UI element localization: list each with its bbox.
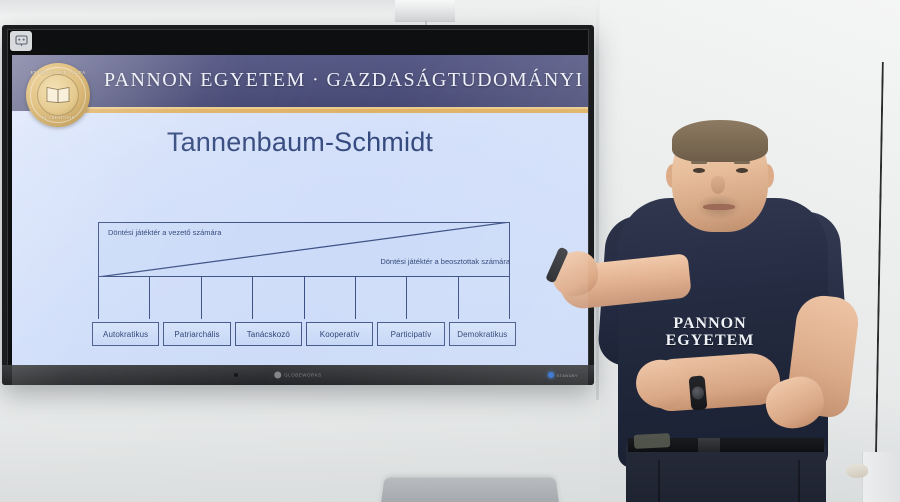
wrist-watch [689, 375, 708, 410]
shirt-logo-text: PANNON EGYETEM [666, 316, 755, 349]
ir-sensor [234, 373, 238, 377]
eye-left [693, 168, 705, 173]
subordinate-latitude-label: Döntési játéktér a beosztottak számára [380, 257, 510, 266]
eyebrow-right [734, 161, 750, 164]
continuum-column [150, 277, 201, 319]
presenter: PANNON EGYETEM [530, 120, 890, 502]
flat-panel-display[interactable]: PANNON EGYETEM · GAZDASÁGTUDOMÁNYI KAR E… [2, 25, 594, 385]
shirt-line-1: PANNON [666, 316, 755, 333]
nose [711, 176, 725, 194]
university-seal-icon: EX FIDE ET MERCATURA ET CREATIONE [26, 63, 90, 127]
style-box-participativ: Participatív [377, 322, 444, 346]
leadership-style-boxes: Autokratikus Patriarchális Tanácskozó Ko… [92, 322, 516, 346]
seal-latin-top-text: EX FIDE ET MERCATURA [26, 70, 90, 75]
small-object-on-radiator [846, 464, 868, 478]
style-box-tanacskozo: Tanácskozó [235, 322, 302, 346]
display-chin-bezel: GLOBEWORKS STANDBY [2, 365, 594, 385]
continuum-column [253, 277, 304, 319]
leader-latitude-label: Döntési játéktér a vezető számára [108, 228, 221, 237]
tannenbaum-schmidt-diagram: Döntési játéktér a vezető számára Döntés… [88, 200, 518, 355]
open-book-icon [45, 87, 71, 104]
gold-accent-swoosh [12, 103, 588, 125]
shirt-line-2: EGYETEM [666, 333, 755, 350]
display-brand-logo: GLOBEWORKS [274, 372, 322, 379]
hair [672, 120, 768, 162]
belt-buckle [698, 438, 720, 452]
presentation-slide: PANNON EGYETEM · GAZDASÁGTUDOMÁNYI KAR E… [12, 55, 588, 385]
continuum-column [356, 277, 407, 319]
continuum-column [407, 277, 458, 319]
pocket-seam-right [798, 460, 800, 502]
style-box-patriarchalis: Patriarchális [163, 322, 230, 346]
style-box-kooperativ: Kooperatív [306, 322, 373, 346]
laptop-lid[interactable] [379, 477, 560, 502]
presentation-screen-icon[interactable] [10, 31, 32, 51]
style-box-autokratikus: Autokratikus [92, 322, 159, 346]
lecture-room-scene: PANNON EGYETEM · GAZDASÁGTUDOMÁNYI KAR E… [0, 0, 900, 502]
continuum-columns [98, 277, 510, 319]
brand-mark-icon [274, 372, 281, 379]
ceiling-strip [0, 0, 430, 14]
eye-right [736, 168, 748, 173]
brand-name-text: GLOBEWORKS [284, 373, 322, 378]
continuum-column [99, 277, 150, 319]
slide-title: Tannenbaum-Schmidt [12, 127, 588, 158]
seal-latin-bottom-text: ET CREATIONE [26, 115, 90, 120]
continuum-column [202, 277, 253, 319]
ceiling-light-fixture [395, 0, 455, 22]
style-box-demokratikus: Demokratikus [449, 322, 516, 346]
pocket-seam-left [658, 460, 660, 502]
wall-radiator [862, 452, 900, 502]
mouth [703, 204, 735, 210]
eyebrow-left [691, 161, 707, 164]
continuum-column [459, 277, 509, 319]
belt-loop [634, 433, 671, 449]
continuum-column [305, 277, 356, 319]
watch-face [691, 386, 704, 400]
institution-title: PANNON EGYETEM · GAZDASÁGTUDOMÁNYI KAR [104, 69, 588, 92]
